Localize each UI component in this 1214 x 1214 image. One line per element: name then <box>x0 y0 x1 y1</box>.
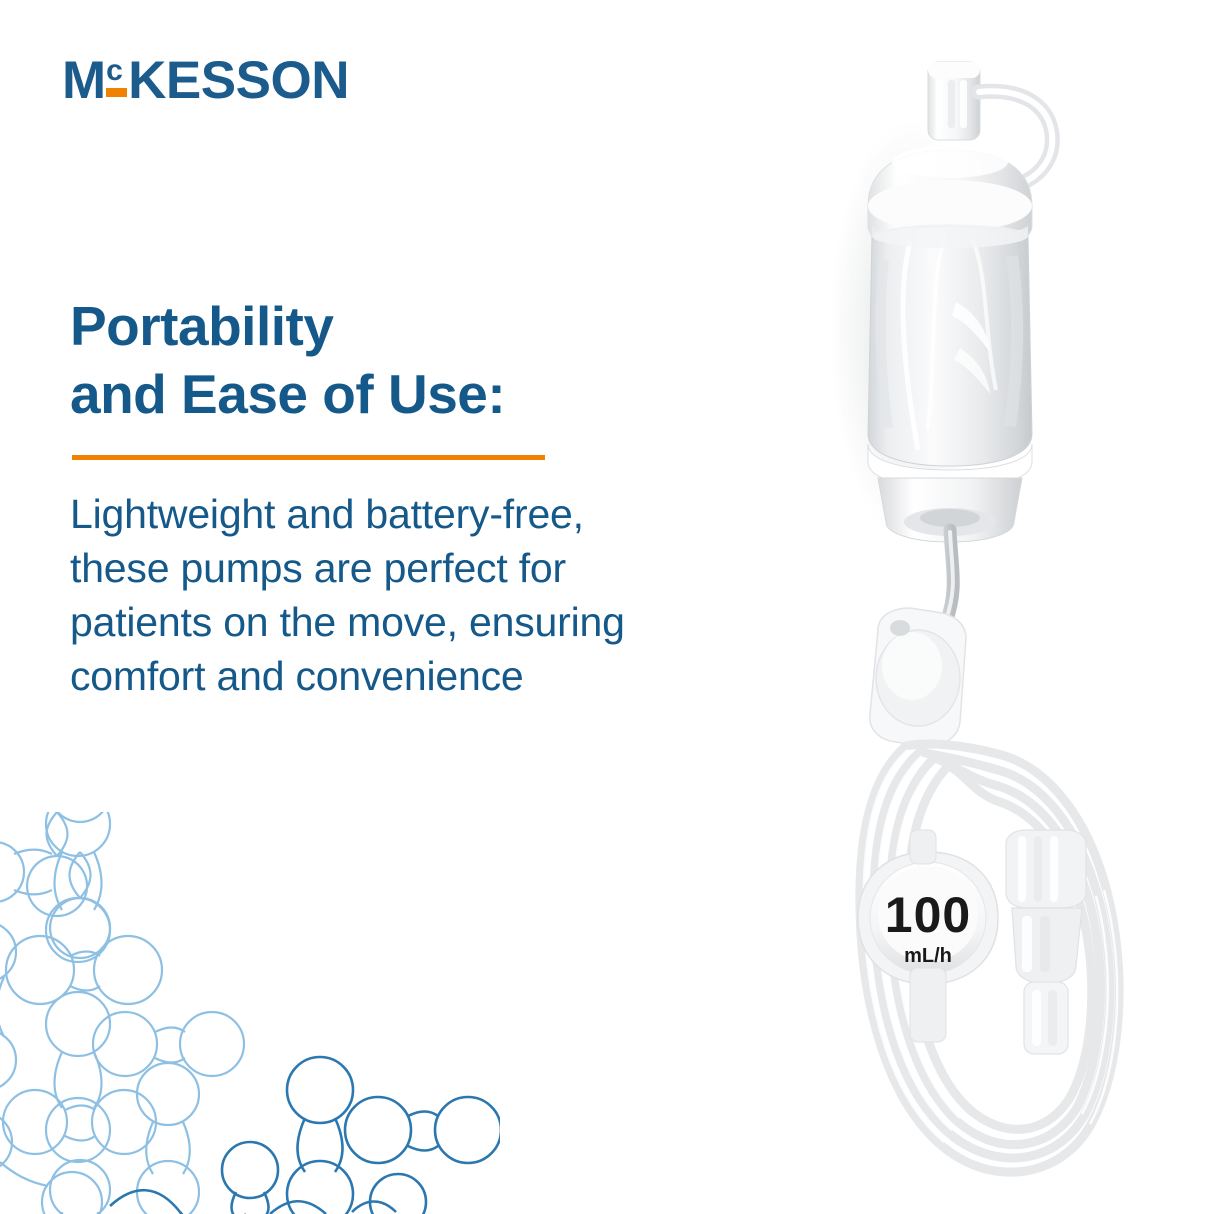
luer-connector <box>1006 830 1086 1054</box>
mckesson-logo: M c KESSON <box>62 55 349 107</box>
product-photo-elastomeric-pump: 100 mL/h <box>760 30 1214 1190</box>
logo-letter-m: M <box>62 55 105 107</box>
logo-letter-c: c <box>106 56 127 86</box>
flow-rate-unit: mL/h <box>904 945 952 967</box>
body-paragraph: Lightweight and battery-free, these pump… <box>70 487 770 703</box>
body-line-4: comfort and convenience <box>70 649 770 703</box>
headline-line-1: Portability <box>70 292 710 360</box>
logo-orange-bar <box>106 88 127 97</box>
orange-divider-rule <box>72 455 545 460</box>
fill-port <box>928 62 980 140</box>
marketing-image: M c KESSON Portability and Ease of Use: … <box>0 0 1214 1214</box>
molecule-node-pattern <box>0 812 500 1214</box>
logo-letters-kesson: KESSON <box>128 55 349 107</box>
headline: Portability and Ease of Use: <box>70 292 710 428</box>
body-line-2: these pumps are perfect for <box>70 541 770 595</box>
elastomeric-reservoir <box>868 224 1032 466</box>
logo-superscript-c-group: c <box>106 55 127 97</box>
body-line-1: Lightweight and battery-free, <box>70 487 770 541</box>
slide-clamp <box>870 608 966 746</box>
body-line-3: patients on the move, ensuring <box>70 595 770 649</box>
flow-rate-value: 100 <box>885 887 971 943</box>
headline-line-2: and Ease of Use: <box>70 360 710 428</box>
